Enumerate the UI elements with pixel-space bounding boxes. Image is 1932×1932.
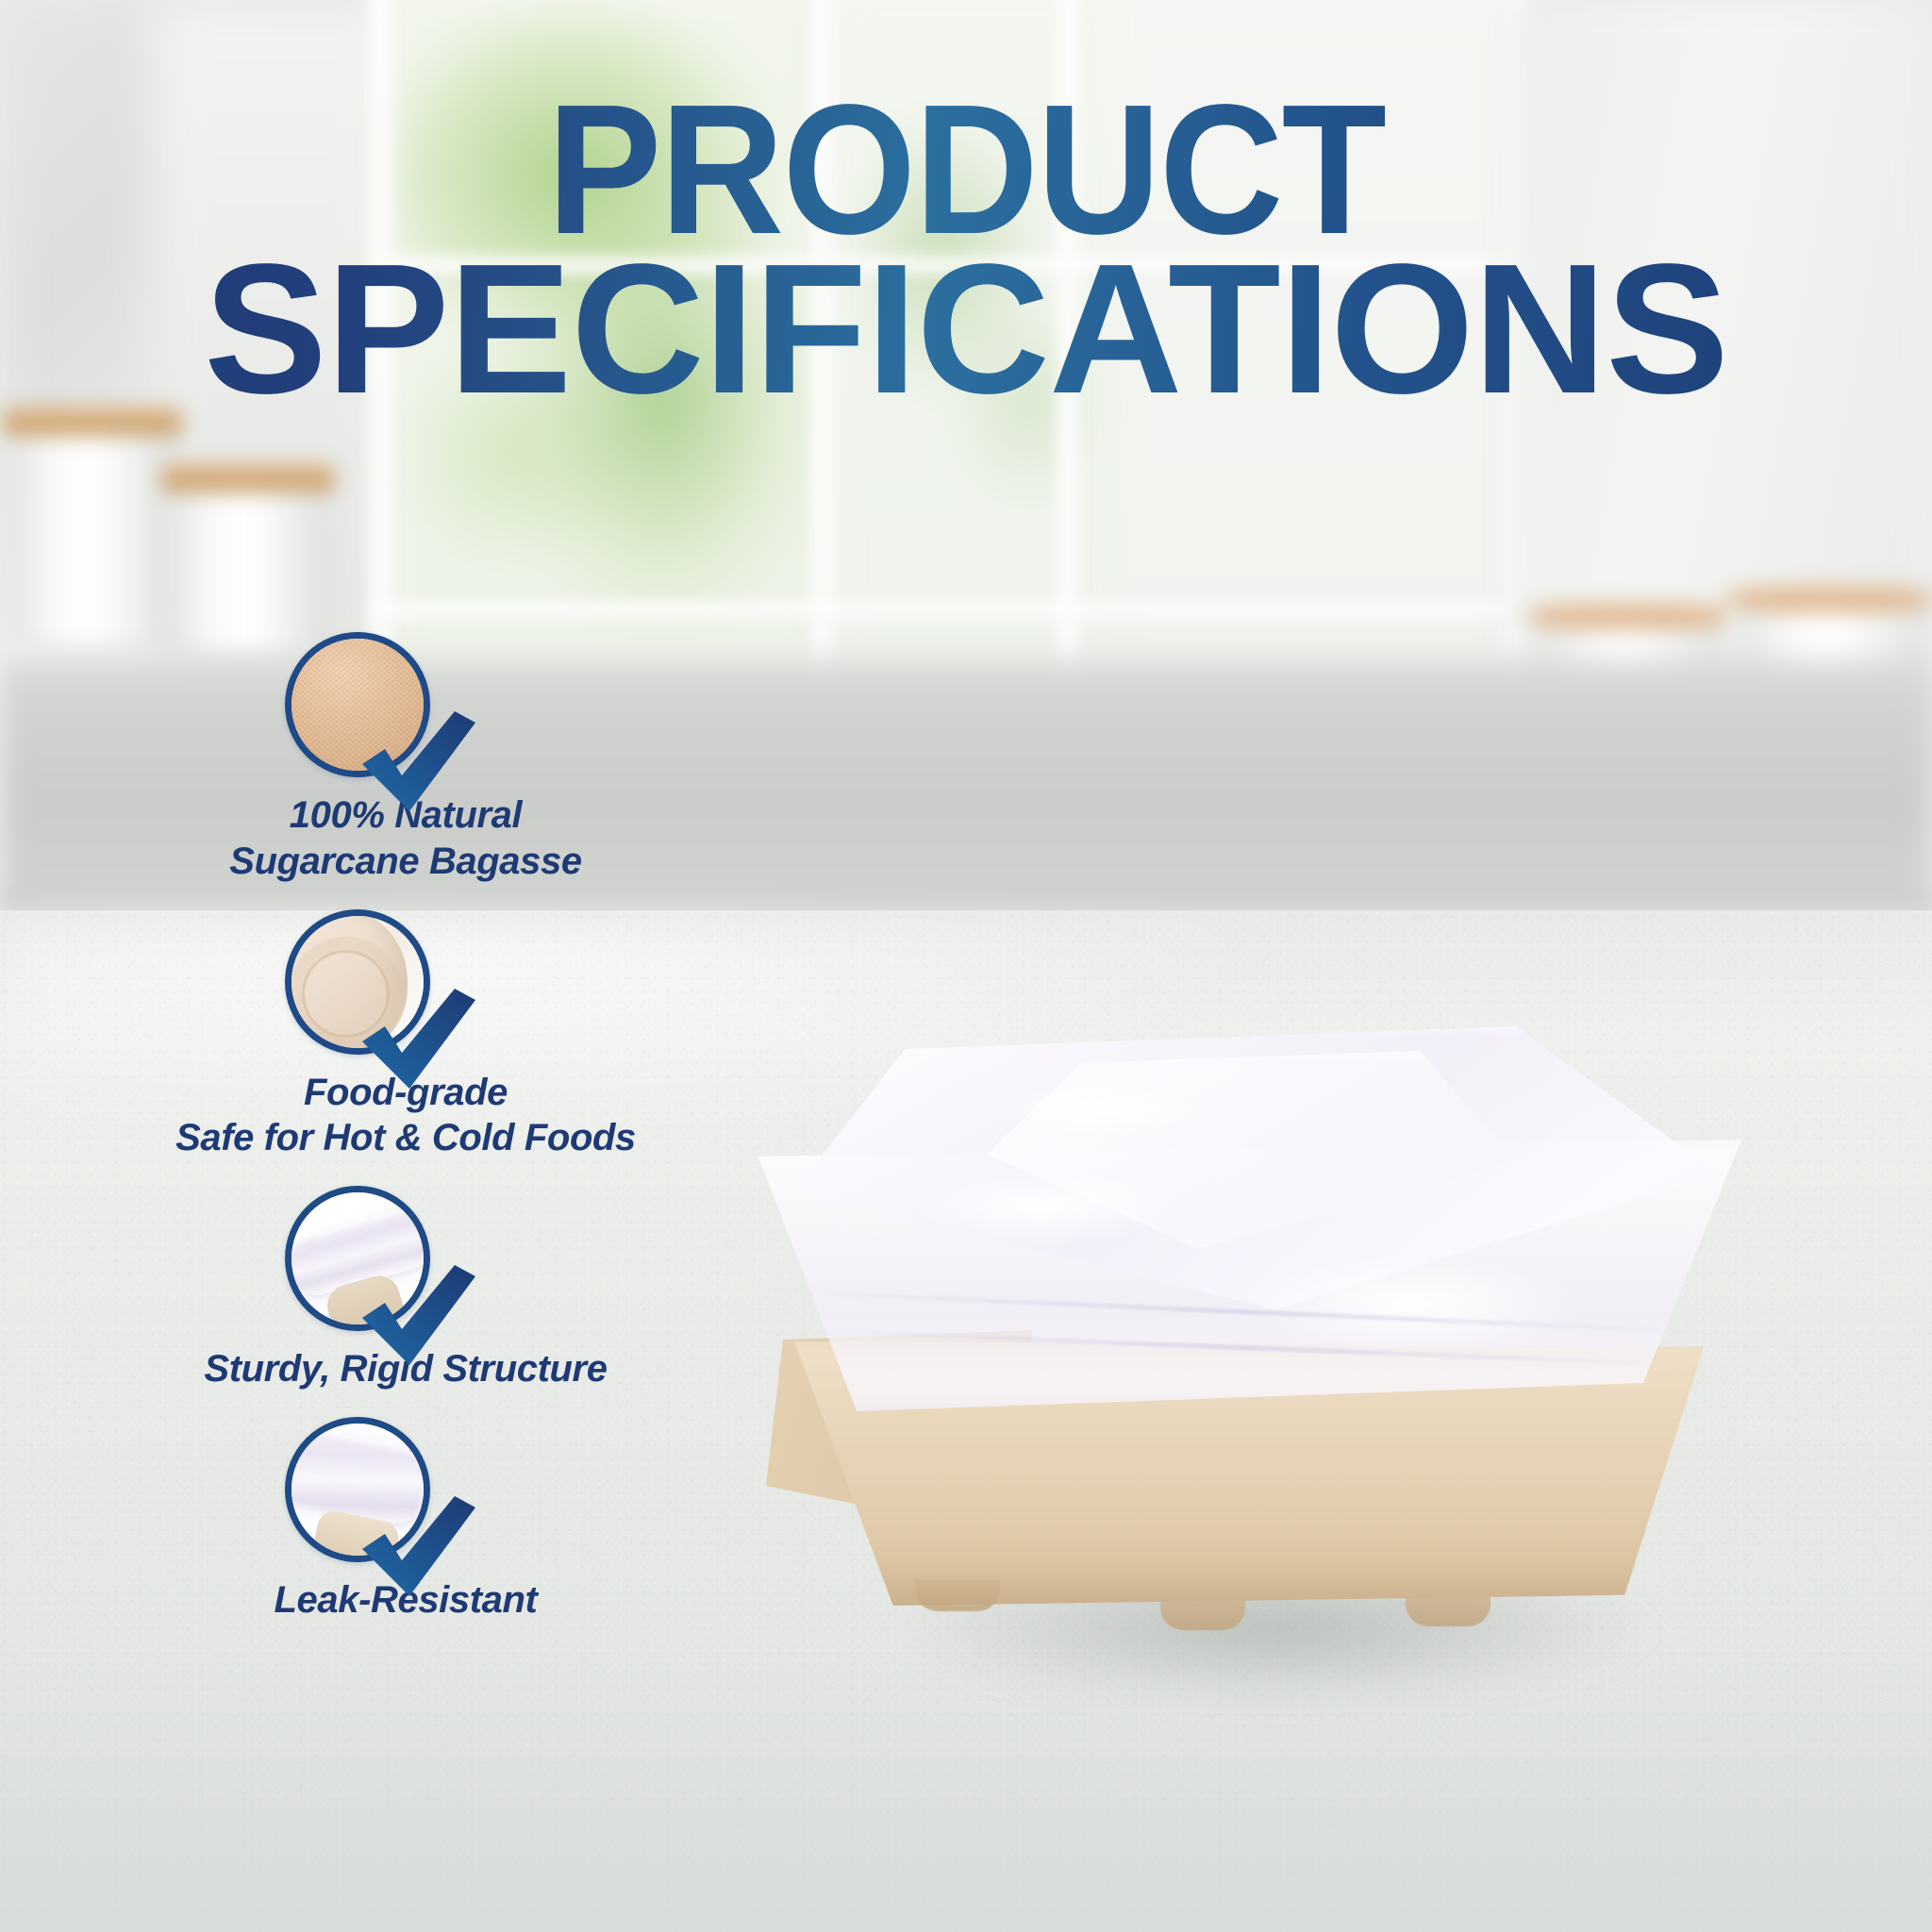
- leak-seal-icon: [285, 1417, 430, 1562]
- bagasse-texture-icon: [285, 632, 430, 777]
- rigid-lid-edge-icon: [285, 1186, 430, 1331]
- feature-label: Sturdy, Rigid Structure: [104, 1346, 708, 1392]
- feature-item: 100% Natural Sugarcane Bagasse: [104, 632, 708, 885]
- feature-item: Food-grade Safe for Hot & Cold Foods: [104, 909, 708, 1162]
- kitchen-canister-1: [9, 408, 175, 643]
- feature-item: Sturdy, Rigid Structure: [104, 1186, 708, 1392]
- window-mullion-horizontal-2: [370, 600, 1530, 621]
- feature-list: 100% Natural Sugarcane Bagasse Food-grad…: [104, 632, 708, 1648]
- feature-label: Food-grade Safe for Hot & Cold Foods: [104, 1070, 708, 1162]
- product-specifications-poster: PRODUCT SPECIFICATIONS 100% Natural Suga…: [0, 0, 1932, 1932]
- feature-label: Leak-Resistant: [104, 1577, 708, 1624]
- feature-badge-row: [104, 909, 708, 1060]
- page-title: PRODUCT SPECIFICATIONS: [0, 91, 1932, 408]
- feature-badge-row: [104, 632, 708, 783]
- feature-badge-row: [104, 1186, 708, 1337]
- lid-highlight-1: [902, 1168, 1185, 1243]
- tray-notch-1: [915, 1579, 1000, 1611]
- kitchen-canister-2: [168, 464, 328, 653]
- title-line-specifications: SPECIFICATIONS: [0, 250, 1932, 409]
- bagasse-lid-icon: [285, 909, 430, 1055]
- tray-notch-2: [1160, 1598, 1245, 1630]
- lid-highlight-3: [987, 1081, 1213, 1138]
- feature-badge-row: [104, 1417, 708, 1568]
- product-photo: [660, 1019, 1868, 1755]
- lid-highlight-2: [1232, 1253, 1591, 1357]
- feature-label: 100% Natural Sugarcane Bagasse: [104, 792, 708, 885]
- clear-dome-lid: [704, 1026, 1796, 1423]
- tray-notch-3: [1406, 1594, 1491, 1626]
- feature-item: Leak-Resistant: [104, 1417, 708, 1624]
